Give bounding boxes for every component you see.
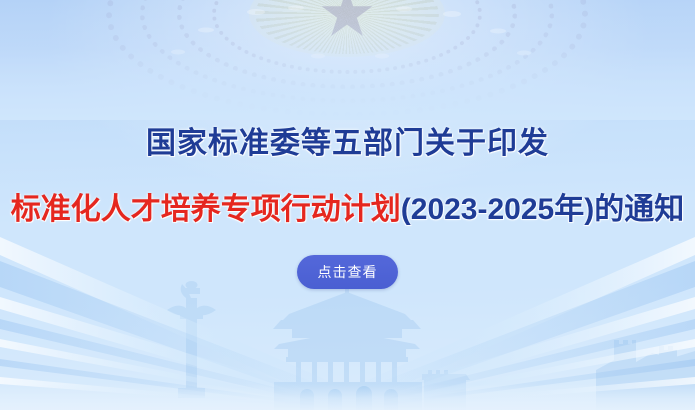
banner-title-plan-name: 标准化人才培养专项行动计划 — [11, 193, 401, 226]
banner-title-line-1: 国家标准委等五部门关于印发 — [146, 118, 549, 162]
banner-content: 国家标准委等五部门关于印发 标准化人才培养专项行动计划(2023-2025年)的… — [0, 0, 695, 410]
banner-title-line-2: 标准化人才培养专项行动计划(2023-2025年)的通知 — [11, 184, 684, 228]
view-details-button[interactable]: 点击查看 — [297, 255, 398, 289]
policy-announcement-banner: 国家标准委等五部门关于印发 标准化人才培养专项行动计划(2023-2025年)的… — [0, 0, 695, 410]
banner-title-period-suffix: (2023-2025年)的通知 — [401, 193, 684, 226]
